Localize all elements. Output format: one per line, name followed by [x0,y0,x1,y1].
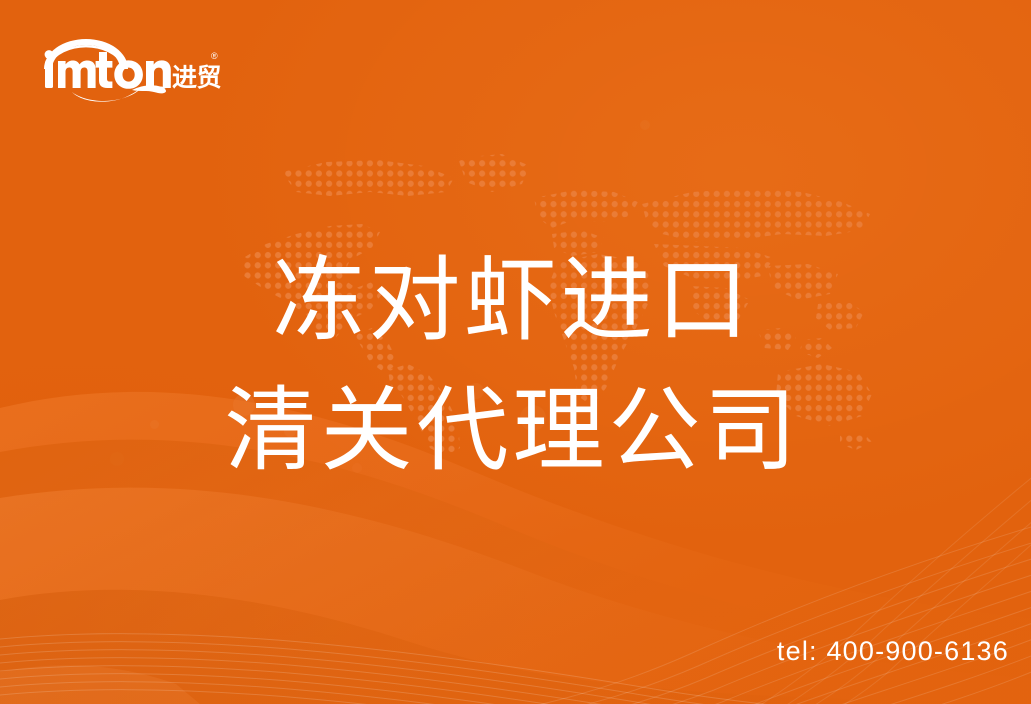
logo-chinese-mark: 进贸通 ® [172,51,221,92]
telephone-text: tel: 400-900-6136 [777,636,1009,667]
promo-banner: 进贸通 ® 冻对虾进口 清关代理公司 tel: 400-900-6136 [0,0,1031,704]
logo-wordmark [45,50,171,89]
brand-logo[interactable]: 进贸通 ® [36,33,221,105]
svg-text:®: ® [211,51,218,61]
svg-text:进贸通: 进贸通 [172,64,221,92]
background-hairlines [0,0,1031,704]
swoosh-icon [72,85,166,101]
